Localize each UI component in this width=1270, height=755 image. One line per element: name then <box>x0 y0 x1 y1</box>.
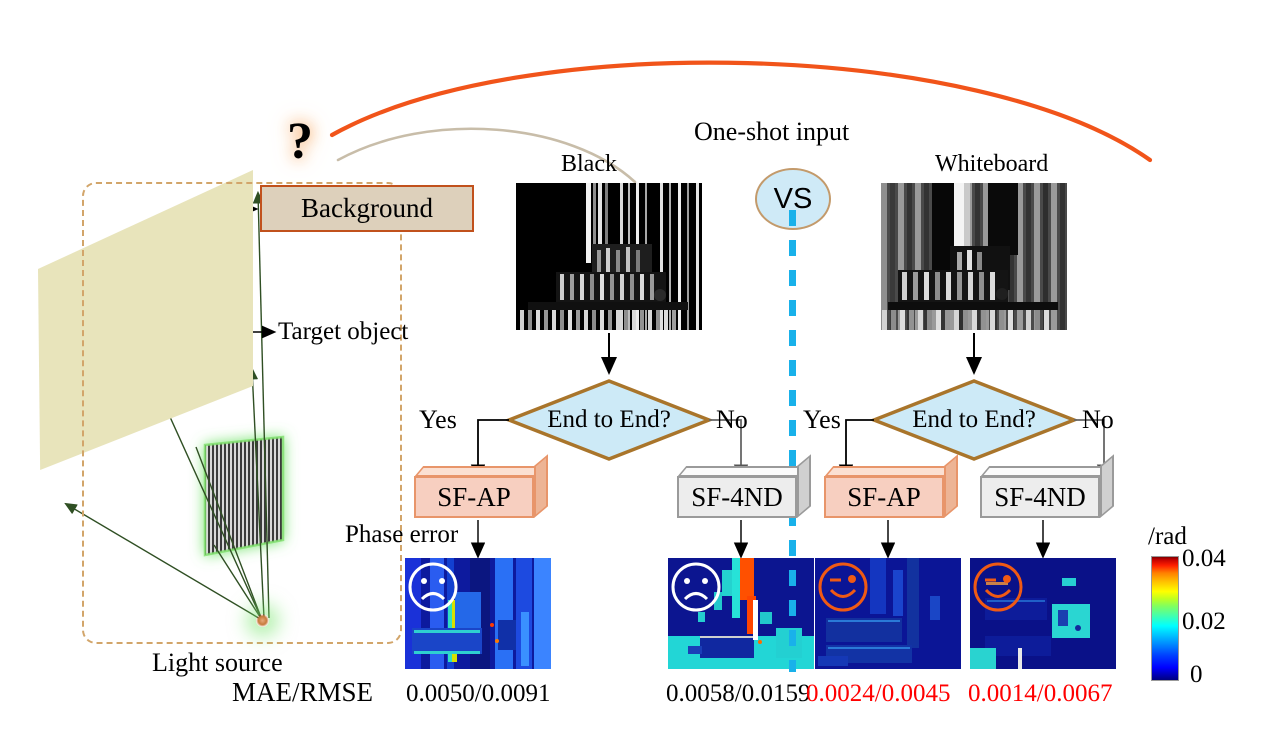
method-box-sfap-black[interactable]: SF-AP <box>414 466 548 518</box>
method-label-sfap-whiteboard: SF-AP <box>824 476 944 518</box>
scene-dashed-boundary <box>82 182 402 644</box>
error-map-white-sfap <box>815 558 961 669</box>
branch-label-no-black: No <box>716 405 748 435</box>
light-source-label: Light source <box>152 650 283 676</box>
branch-label-no-whiteboard: No <box>1082 405 1114 435</box>
decision-black[interactable]: End to End? <box>509 381 709 459</box>
figure-canvas: ? Background Target object Light source … <box>0 0 1270 755</box>
method-box-sf4nd-black[interactable]: SF-4ND <box>677 466 811 518</box>
mae-rmse-row-label: MAE/RMSE <box>232 679 373 706</box>
metric-black-sfap: 0.0050/0.0091 <box>406 680 550 708</box>
fringe-image-black <box>516 183 702 330</box>
decision-whiteboard-label: End to End? <box>874 381 1074 459</box>
colorbar-tick-mid: 0.02 <box>1182 608 1226 636</box>
error-map-black-sfap <box>405 558 551 669</box>
background-label-text: Background <box>301 193 433 224</box>
decision-black-label: End to End? <box>509 381 709 459</box>
question-mark-icon: ? <box>287 116 313 168</box>
branch-label-yes-whiteboard: Yes <box>803 405 841 435</box>
error-map-white-sf4nd <box>970 558 1116 669</box>
fringe-image-whiteboard <box>881 183 1067 330</box>
box-side-face <box>534 454 548 518</box>
method-label-sf4nd-whiteboard: SF-4ND <box>980 476 1100 518</box>
metric-whiteboard-sfap: 0.0024/0.0045 <box>806 680 950 708</box>
input-label-black: Black <box>561 152 617 176</box>
method-box-sfap-whiteboard[interactable]: SF-AP <box>824 466 958 518</box>
branch-label-yes-black: Yes <box>419 405 457 435</box>
method-box-sf4nd-whiteboard[interactable]: SF-4ND <box>980 466 1114 518</box>
phase-error-label: Phase error <box>345 522 458 547</box>
target-object-label: Target object <box>278 319 408 344</box>
input-label-whiteboard: Whiteboard <box>935 152 1048 176</box>
one-shot-input-title: One-shot input <box>694 119 849 145</box>
box-side-face <box>1100 454 1114 518</box>
metric-whiteboard-sf4nd: 0.0014/0.0067 <box>968 680 1112 708</box>
metric-black-sf4nd: 0.0058/0.0159 <box>666 680 810 708</box>
comparison-divider <box>789 210 796 672</box>
colorbar-tick-max: 0.04 <box>1182 545 1226 573</box>
background-label-box: Background <box>260 185 474 232</box>
method-label-sfap-black: SF-AP <box>414 476 534 518</box>
decision-whiteboard[interactable]: End to End? <box>874 381 1074 459</box>
method-label-sf4nd-black: SF-4ND <box>677 476 797 518</box>
colorbar-gradient <box>1151 556 1179 681</box>
box-side-face <box>797 454 811 518</box>
light-source-icon <box>256 614 269 627</box>
box-side-face <box>944 454 958 518</box>
colorbar-tick-min: 0 <box>1190 661 1203 689</box>
